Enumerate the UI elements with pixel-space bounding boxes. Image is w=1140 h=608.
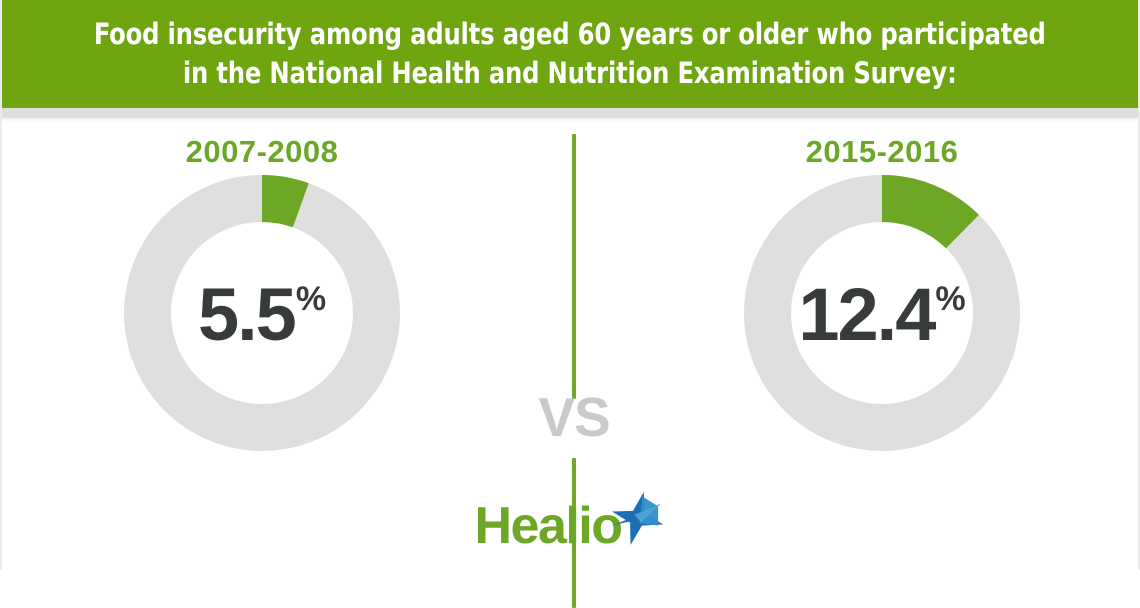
four-point-star-icon	[608, 490, 666, 548]
year-label-left: 2007-2008	[2, 134, 522, 170]
donut-chart-right: 12.4%	[744, 175, 1020, 451]
panel-2007-2008: 2007-2008 5.5%	[2, 118, 522, 488]
header-divider-bar	[2, 108, 1138, 118]
donut-right-track	[768, 199, 997, 428]
infographic-root: Food insecurity among adults aged 60 yea…	[0, 0, 1140, 570]
donut-chart-left: 5.5%	[124, 175, 400, 451]
year-label-right: 2015-2016	[622, 134, 1140, 170]
header-banner: Food insecurity among adults aged 60 yea…	[2, 0, 1138, 108]
donut-left-svg	[124, 175, 400, 451]
donut-right-svg	[744, 175, 1020, 451]
divider-line-top	[572, 134, 576, 399]
page-title: Food insecurity among adults aged 60 yea…	[94, 15, 1046, 92]
panel-2015-2016: 2015-2016 12.4%	[622, 118, 1140, 488]
healio-wordmark: Healio	[474, 500, 621, 552]
donut-left-track	[148, 199, 377, 428]
healio-logo[interactable]: Healio	[2, 490, 1138, 562]
vs-label: VS	[530, 390, 618, 445]
vs-divider: VS	[572, 118, 573, 488]
